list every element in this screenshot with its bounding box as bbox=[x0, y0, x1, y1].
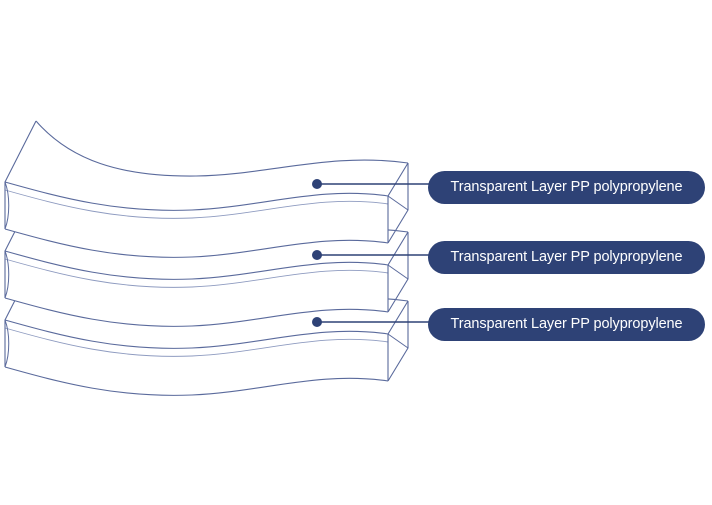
layer-label-text-middle: Transparent Layer PP polypropylene bbox=[451, 250, 683, 265]
layer-label-text-top: Transparent Layer PP polypropylene bbox=[451, 180, 683, 195]
layer-marker-dot-3 bbox=[312, 317, 322, 327]
layer-marker-dot-1 bbox=[312, 179, 322, 189]
layer-label-pill-middle[interactable]: Transparent Layer PP polypropylene bbox=[428, 241, 705, 274]
layer-label-text-bottom: Transparent Layer PP polypropylene bbox=[451, 317, 683, 332]
layer-marker-dot-2 bbox=[312, 250, 322, 260]
layer-label-pill-top[interactable]: Transparent Layer PP polypropylene bbox=[428, 171, 705, 204]
layer-label-pill-bottom[interactable]: Transparent Layer PP polypropylene bbox=[428, 308, 705, 341]
layered-material-diagram: Transparent Layer PP polypropylene Trans… bbox=[0, 0, 712, 505]
layer-sheet-top bbox=[5, 121, 408, 257]
